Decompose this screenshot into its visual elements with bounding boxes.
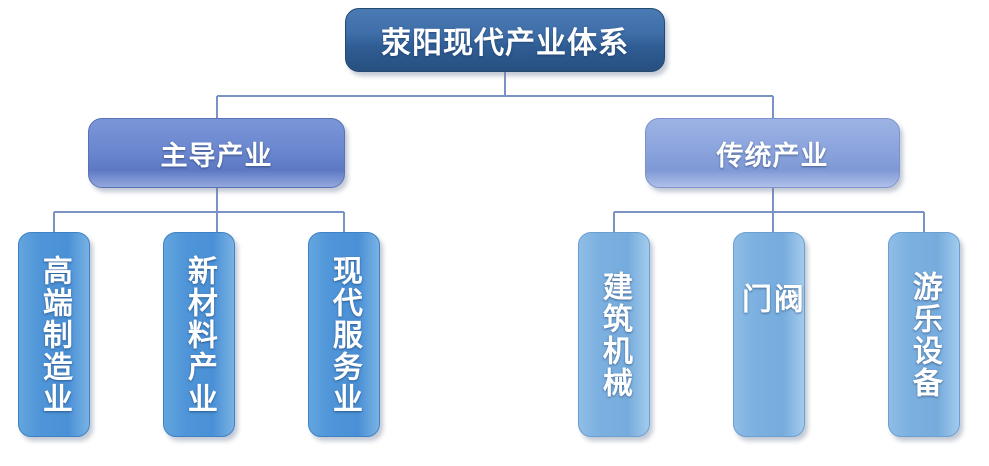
leaf-node-high-end-manufacturing[interactable]: 高端制造业 — [18, 232, 90, 437]
leaf-node-construction-machinery[interactable]: 建筑机械 — [578, 232, 650, 437]
leaf-node-modern-services[interactable]: 现代服务业 — [308, 232, 380, 437]
branch-node-leading-industries[interactable]: 主导产业 — [88, 118, 345, 188]
branch-node-traditional-industries[interactable]: 传统产业 — [645, 118, 900, 188]
leaf-node-new-materials-industry[interactable]: 新材料产业 — [163, 232, 235, 437]
leaf-node-amusement-equipment[interactable]: 游乐设备 — [888, 232, 960, 437]
root-node[interactable]: 荥阳现代产业体系 — [345, 8, 665, 72]
org-chart-canvas: 荥阳现代产业体系 主导产业 传统产业 高端制造业 新材料产业 现代服务业 建筑机… — [0, 0, 989, 466]
leaf-node-valves[interactable]: 阀门 — [733, 232, 805, 437]
